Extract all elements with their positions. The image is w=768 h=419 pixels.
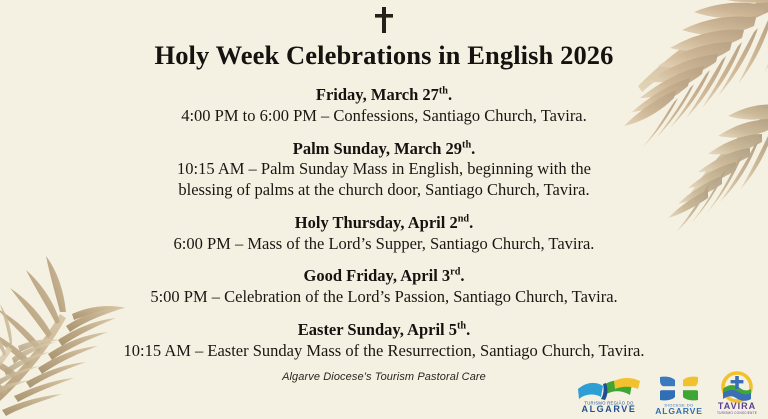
turismo-logo-main-text: ALGARVE xyxy=(581,404,636,414)
event-heading-main: Friday, March 27 xyxy=(316,85,439,104)
event-heading-ordinal: rd xyxy=(450,267,460,278)
event-heading-tail: . xyxy=(469,213,473,232)
event-heading: Good Friday, April 3rd. xyxy=(0,265,768,287)
event-detail-line: 6:00 PM – Mass of the Lord’s Supper, San… xyxy=(110,234,658,255)
latin-cross-icon xyxy=(373,21,395,38)
event-detail: 10:15 AM – Palm Sunday Mass in English, … xyxy=(0,159,768,201)
event-heading-main: Palm Sunday, March 29 xyxy=(293,139,462,158)
event-item: Good Friday, April 3rd. 5:00 PM – Celebr… xyxy=(0,265,768,308)
tavira-logo-main-text: TAVIRA xyxy=(718,401,756,411)
event-detail-line: 10:15 AM – Palm Sunday Mass in English, … xyxy=(110,159,658,180)
event-heading-tail: . xyxy=(466,320,470,339)
event-detail: 4:00 PM to 6:00 PM – Confessions, Santia… xyxy=(0,106,768,127)
event-item: Friday, March 27th. 4:00 PM to 6:00 PM –… xyxy=(0,84,768,127)
event-detail: 10:15 AM – Easter Sunday Mass of the Res… xyxy=(0,341,768,362)
page-title: Holy Week Celebrations in English 2026 xyxy=(0,40,768,71)
event-heading-tail: . xyxy=(448,85,452,104)
turismo-algarve-logo[interactable]: TURISMO REGIÃO DO ALGARVE xyxy=(574,375,644,415)
event-heading: Easter Sunday, April 5th. xyxy=(0,319,768,341)
event-detail-line: 4:00 PM to 6:00 PM – Confessions, Santia… xyxy=(110,106,658,127)
event-item: Holy Thursday, April 2nd. 6:00 PM – Mass… xyxy=(0,212,768,255)
event-heading-main: Easter Sunday, April 5 xyxy=(298,320,457,339)
poster-canvas: Holy Week Celebrations in English 2026 F… xyxy=(0,0,768,419)
footer: Algarve Diocese’s Tourism Pastoral Care … xyxy=(0,365,768,411)
event-detail-line: 10:15 AM – Easter Sunday Mass of the Res… xyxy=(110,341,658,362)
event-heading-ordinal: nd xyxy=(458,213,469,224)
diocese-algarve-logo[interactable]: DIOCESE DO ALGARVE xyxy=(654,373,704,415)
schedule-list: Friday, March 27th. 4:00 PM to 6:00 PM –… xyxy=(0,84,768,362)
event-heading-main: Holy Thursday, April 2 xyxy=(295,213,458,232)
tavira-logo-sub-text: TURISMO CONSCIENTE xyxy=(717,411,757,415)
event-item: Palm Sunday, March 29th. 10:15 AM – Palm… xyxy=(0,138,768,201)
event-heading: Palm Sunday, March 29th. xyxy=(0,138,768,160)
event-heading-tail: . xyxy=(471,139,475,158)
event-detail-line: blessing of palms at the church door, Sa… xyxy=(110,180,658,201)
event-detail-line: 5:00 PM – Celebration of the Lord’s Pass… xyxy=(110,287,658,308)
event-heading: Holy Thursday, April 2nd. xyxy=(0,212,768,234)
event-heading-ordinal: th xyxy=(457,320,466,331)
event-detail: 5:00 PM – Celebration of the Lord’s Pass… xyxy=(0,287,768,308)
event-heading-ordinal: th xyxy=(439,86,448,97)
event-heading: Friday, March 27th. xyxy=(0,84,768,106)
cross-header xyxy=(0,6,768,39)
event-heading-tail: . xyxy=(460,266,464,285)
event-heading-main: Good Friday, April 3 xyxy=(303,266,450,285)
tavira-logo[interactable]: TAVIRA TURISMO CONSCIENTE xyxy=(714,371,760,415)
event-detail: 6:00 PM – Mass of the Lord’s Supper, San… xyxy=(0,234,768,255)
footer-logos: TURISMO REGIÃO DO ALGARVE DIOCESE DO ALG… xyxy=(574,371,760,415)
event-item: Easter Sunday, April 5th. 10:15 AM – Eas… xyxy=(0,319,768,362)
diocese-logo-main-text: ALGARVE xyxy=(655,406,702,415)
event-heading-ordinal: th xyxy=(462,139,471,150)
